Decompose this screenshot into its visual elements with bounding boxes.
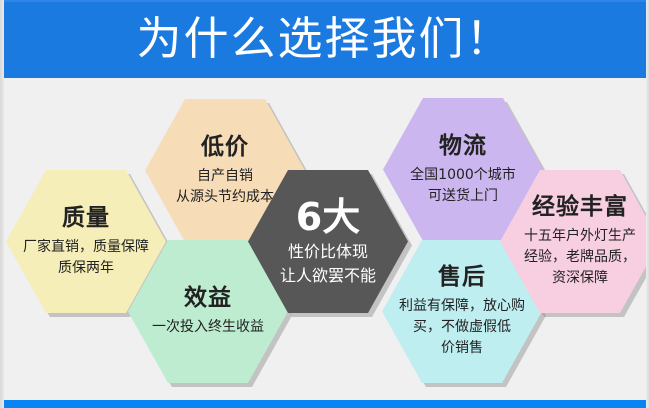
hexagon-description: 利益有保障，放心购买，不做虚假低价销售 [399, 296, 525, 359]
hexagon-title: 效益 [184, 285, 232, 312]
page-title: 为什么选择我们！ [0, 8, 649, 70]
hexagon-description-line: 可送货上门 [410, 186, 516, 207]
header-bar: 为什么选择我们！ [0, 0, 649, 78]
hexagon-description-line: 性价比体现 [280, 240, 376, 264]
hexagon-title: 质量 [62, 205, 110, 232]
hexagon-title: 低价 [201, 134, 249, 161]
hexagon-description-line: 买，不做虚假低 [399, 317, 525, 338]
hexagon-title: 6大 [296, 196, 360, 238]
hexagon-description: 十五年户外灯生产经验，老牌品质，资深保障 [524, 226, 636, 289]
hexagon-description-line: 十五年户外灯生产 [524, 226, 636, 247]
hexagon-description-line: 一次投入终生收益 [152, 317, 264, 338]
hexagon-description: 厂家直销，质量保障质保两年 [23, 237, 149, 279]
hexagon-description-line: 资深保障 [524, 268, 636, 289]
hexagon-description-line: 经验，老牌品质， [524, 247, 636, 268]
hexagon-description-line: 厂家直销，质量保障 [23, 237, 149, 258]
footer-bar [0, 400, 649, 408]
hexagon-title: 售后 [438, 264, 486, 291]
hexagon-description: 自产自销从源头节约成本 [176, 166, 274, 208]
hexagon-title: 经验丰富 [532, 194, 628, 221]
hexagon-description-line: 全国1000个城市 [410, 165, 516, 186]
hexagon-description: 一次投入终生收益 [152, 317, 264, 338]
hexagon-description: 全国1000个城市可送货上门 [410, 165, 516, 207]
hexagon-description-line: 从源头节约成本 [176, 187, 274, 208]
hexagon-description-line: 利益有保障，放心购 [399, 296, 525, 317]
hexagon-description-line: 让人欲罢不能 [280, 264, 376, 288]
hexagon-title: 物流 [439, 133, 487, 160]
hexagon-description-line: 自产自销 [176, 166, 274, 187]
canvas-left-edge [0, 0, 4, 408]
hexagon-description: 性价比体现让人欲罢不能 [280, 240, 376, 288]
hexagon-description-line: 质保两年 [23, 258, 149, 279]
promo-poster: 为什么选择我们！ 质量厂家直销，质量保障质保两年低价自产自销从源头节约成本效益一… [0, 0, 649, 408]
hexagon-description-line: 价销售 [399, 338, 525, 359]
